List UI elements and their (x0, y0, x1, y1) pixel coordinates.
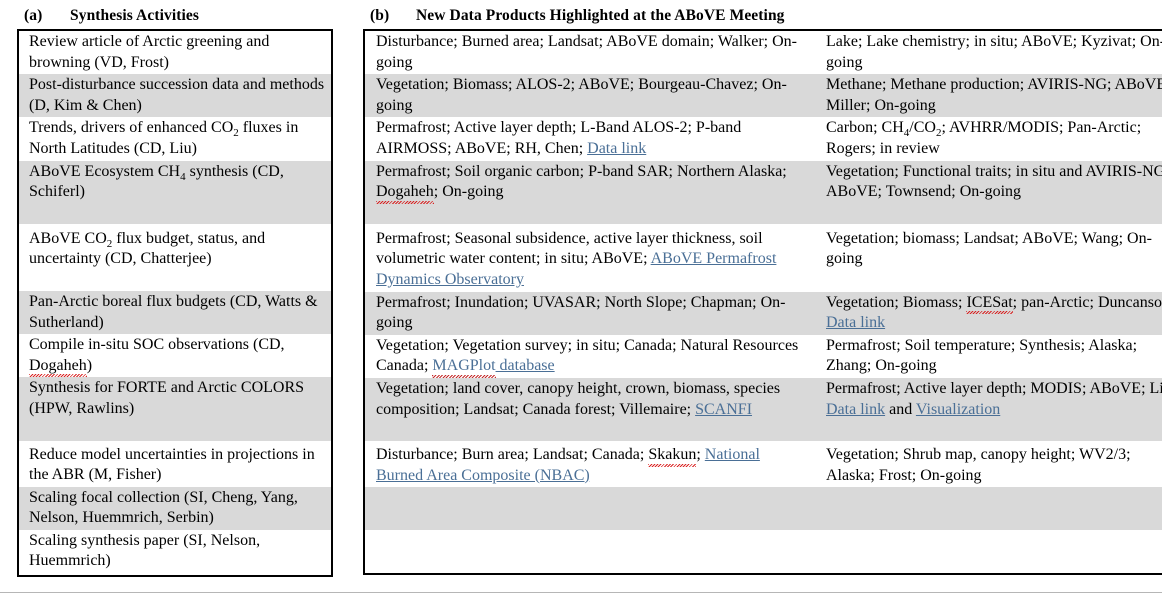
activity-cell: Reduce model uncertainties in projection… (18, 441, 332, 487)
magplot-database-link[interactable]: MAGPlot database (432, 357, 554, 374)
product-cell-right: Lake; Lake chemistry; in situ; ABoVE; Ky… (809, 30, 1162, 74)
product-cell-right-empty (809, 530, 1162, 574)
synthesis-activities-table: Review article of Arctic greening and br… (17, 29, 333, 577)
product-cell-right: Permafrost; Soil temperature; Synthesis;… (809, 335, 1162, 378)
table-row: Vegetation; Vegetation survey; in situ; … (364, 335, 1162, 378)
activity-cell: ABoVE CO2 flux budget, status, and uncer… (18, 224, 332, 291)
table-row: Scaling focal collection (SI, Cheng, Yan… (18, 487, 332, 530)
spellcheck-word: ICESat (966, 293, 1012, 314)
table-row: Vegetation; land cover, canopy height, c… (364, 378, 1162, 441)
table-row: Reduce model uncertainties in projection… (18, 441, 332, 487)
panel-a-tag: (a) (24, 5, 70, 26)
scanfi-link[interactable]: SCANFI (695, 401, 752, 418)
product-cell-left: Permafrost; Active layer depth; L-Band A… (364, 117, 809, 160)
spellcheck-word: Dogaheh (29, 356, 87, 377)
table-row: Synthesis for FORTE and Arctic COLORS (H… (18, 377, 332, 440)
product-cell-right: Vegetation; Biomass; ICESat; pan-Arctic;… (809, 292, 1162, 335)
activity-cell: Post-disturbance succession data and met… (18, 74, 332, 117)
spellcheck-word: Dogaheh (376, 182, 434, 203)
data-link[interactable]: Data link (826, 314, 885, 331)
product-cell-right: Vegetation; biomass; Landsat; ABoVE; Wan… (809, 224, 1162, 292)
table-row: Permafrost; Seasonal subsidence, active … (364, 224, 1162, 292)
new-data-products-table: Disturbance; Burned area; Landsat; ABoVE… (363, 29, 1162, 575)
new-data-products-body: Disturbance; Burned area; Landsat; ABoVE… (364, 30, 1162, 574)
product-cell-left: Vegetation; Biomass; ALOS-2; ABoVE; Bour… (364, 74, 809, 117)
activity-cell: Synthesis for FORTE and Arctic COLORS (H… (18, 377, 332, 440)
activity-cell: Pan-Arctic boreal flux budgets (CD, Watt… (18, 291, 332, 334)
table-row: Trends, drivers of enhanced CO2 fluxes i… (18, 117, 332, 160)
product-cell-right: Permafrost; Active layer depth; MODIS; A… (809, 378, 1162, 441)
product-cell-left-empty (364, 530, 809, 574)
table-row: Post-disturbance succession data and met… (18, 74, 332, 117)
table-row: Pan-Arctic boreal flux budgets (CD, Watt… (18, 291, 332, 334)
panel-a-title-text: Synthesis Activities (70, 7, 199, 24)
table-row: Vegetation; Biomass; ALOS-2; ABoVE; Bour… (364, 74, 1162, 117)
activity-cell: Scaling focal collection (SI, Cheng, Yan… (18, 487, 332, 530)
product-cell-left: Vegetation; land cover, canopy height, c… (364, 378, 809, 441)
page-bottom-rule (0, 592, 1162, 593)
data-link[interactable]: Data link (826, 401, 885, 418)
table-row (364, 530, 1162, 574)
panel-new-data-products: (b)New Data Products Highlighted at the … (363, 5, 1145, 575)
above-permafrost-dynamics-observatory-link[interactable]: ABoVE Permafrost Dynamics Observatory (376, 250, 776, 288)
panel-b-title: (b)New Data Products Highlighted at the … (363, 5, 1145, 26)
activity-cell: Scaling synthesis paper (SI, Nelson, Hue… (18, 530, 332, 576)
table-row: Disturbance; Burn area; Landsat; Canada;… (364, 441, 1162, 487)
product-cell-left: Permafrost; Soil organic carbon; P-band … (364, 161, 809, 224)
nbac-link[interactable]: National Burned Area Composite (NBAC) (376, 446, 760, 484)
table-row: ABoVE Ecosystem CH4 synthesis (CD, Schif… (18, 161, 332, 224)
panel-synthesis-activities: (a)Synthesis Activities Review article o… (17, 5, 333, 577)
activity-cell: Compile in-situ SOC observations (CD, Do… (18, 334, 332, 377)
product-cell-right: Vegetation; Shrub map, canopy height; WV… (809, 441, 1162, 487)
activity-cell: Trends, drivers of enhanced CO2 fluxes i… (18, 117, 332, 160)
synthesis-activities-body: Review article of Arctic greening and br… (18, 30, 332, 576)
product-cell-left: Disturbance; Burned area; Landsat; ABoVE… (364, 30, 809, 74)
table-row: Scaling synthesis paper (SI, Nelson, Hue… (18, 530, 332, 576)
data-link[interactable]: Data link (587, 140, 646, 157)
table-row: Disturbance; Burned area; Landsat; ABoVE… (364, 30, 1162, 74)
spellcheck-word: Skakun (648, 445, 696, 466)
table-row: ABoVE CO2 flux budget, status, and uncer… (18, 224, 332, 291)
table-row: Review article of Arctic greening and br… (18, 30, 332, 74)
product-cell-left: Vegetation; Vegetation survey; in situ; … (364, 335, 809, 378)
table-row: Permafrost; Inundation; UVASAR; North Sl… (364, 292, 1162, 335)
product-cell-right: Carbon; CH4/CO2; AVHRR/MODIS; Pan-Arctic… (809, 117, 1162, 160)
product-cell-right: Methane; Methane production; AVIRIS-NG; … (809, 74, 1162, 117)
spellcheck-word: MAGPlot (432, 356, 495, 377)
table-row: Permafrost; Active layer depth; L-Band A… (364, 117, 1162, 160)
table-row: Permafrost; Soil organic carbon; P-band … (364, 161, 1162, 224)
product-cell-left: Permafrost; Inundation; UVASAR; North Sl… (364, 292, 809, 335)
panel-b-title-text: New Data Products Highlighted at the ABo… (416, 7, 785, 24)
table-row (364, 487, 1162, 530)
product-cell-right: Vegetation; Functional traits; in situ a… (809, 161, 1162, 224)
product-cell-right-empty (809, 487, 1162, 530)
product-cell-left: Disturbance; Burn area; Landsat; Canada;… (364, 441, 809, 487)
activity-cell: Review article of Arctic greening and br… (18, 30, 332, 74)
activity-cell: ABoVE Ecosystem CH4 synthesis (CD, Schif… (18, 161, 332, 224)
panel-a-title: (a)Synthesis Activities (17, 5, 333, 26)
product-cell-left: Permafrost; Seasonal subsidence, active … (364, 224, 809, 292)
table-row: Compile in-situ SOC observations (CD, Do… (18, 334, 332, 377)
panel-b-tag: (b) (370, 5, 416, 26)
product-cell-left-empty (364, 487, 809, 530)
figure-page: (a)Synthesis Activities Review article o… (0, 0, 1162, 605)
visualization-link[interactable]: Visualization (916, 401, 1000, 418)
